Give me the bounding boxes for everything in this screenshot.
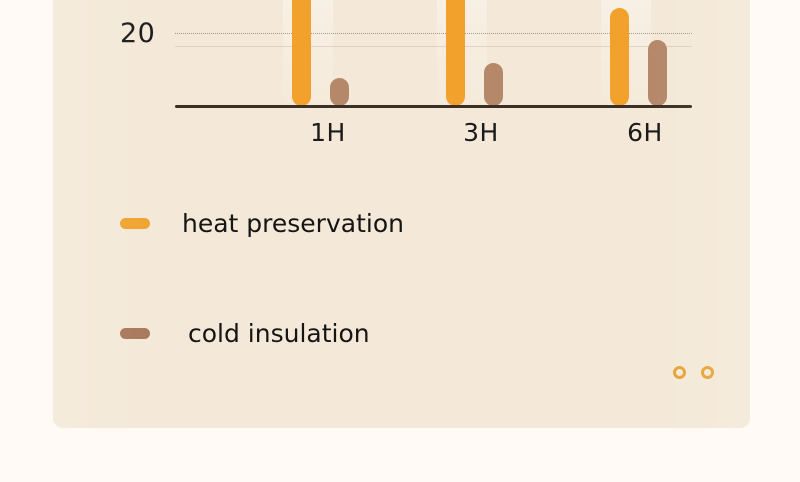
x-axis-label-6h: 6H <box>627 120 663 145</box>
bar-heat-preservation-3h <box>446 0 465 106</box>
product-info-card: 1H 3H 6H 20 heat preservation cold insul… <box>53 0 750 428</box>
pagination-dots[interactable] <box>673 366 714 379</box>
bar-cold-insulation-6h <box>648 40 667 106</box>
chart-plot-area: 1H 3H 6H <box>175 0 692 106</box>
legend-swatch-cold-insulation-icon <box>120 328 150 339</box>
page-background: 1H 3H 6H 20 heat preservation cold insul… <box>0 0 800 482</box>
legend-swatch-heat-preservation-icon <box>120 218 150 229</box>
insulation-performance-chart: 1H 3H 6H 20 <box>53 0 750 160</box>
page-dot-1-icon[interactable] <box>673 366 686 379</box>
legend-label-cold-insulation: cold insulation <box>188 321 370 346</box>
legend-item-heat-preservation: heat preservation <box>120 208 404 238</box>
legend-label-heat-preservation: heat preservation <box>182 211 404 236</box>
x-axis-label-1h: 1H <box>310 120 346 145</box>
bar-cold-insulation-1h <box>330 78 349 106</box>
bar-cold-insulation-3h <box>484 63 503 106</box>
page-dot-2-icon[interactable] <box>701 366 714 379</box>
x-axis-line <box>175 105 692 108</box>
bar-heat-preservation-1h <box>292 0 311 106</box>
legend-item-cold-insulation: cold insulation <box>120 318 370 348</box>
y-axis-label-20: 20 <box>120 20 155 47</box>
bar-heat-preservation-6h <box>610 8 629 106</box>
x-axis-label-3h: 3H <box>463 120 499 145</box>
